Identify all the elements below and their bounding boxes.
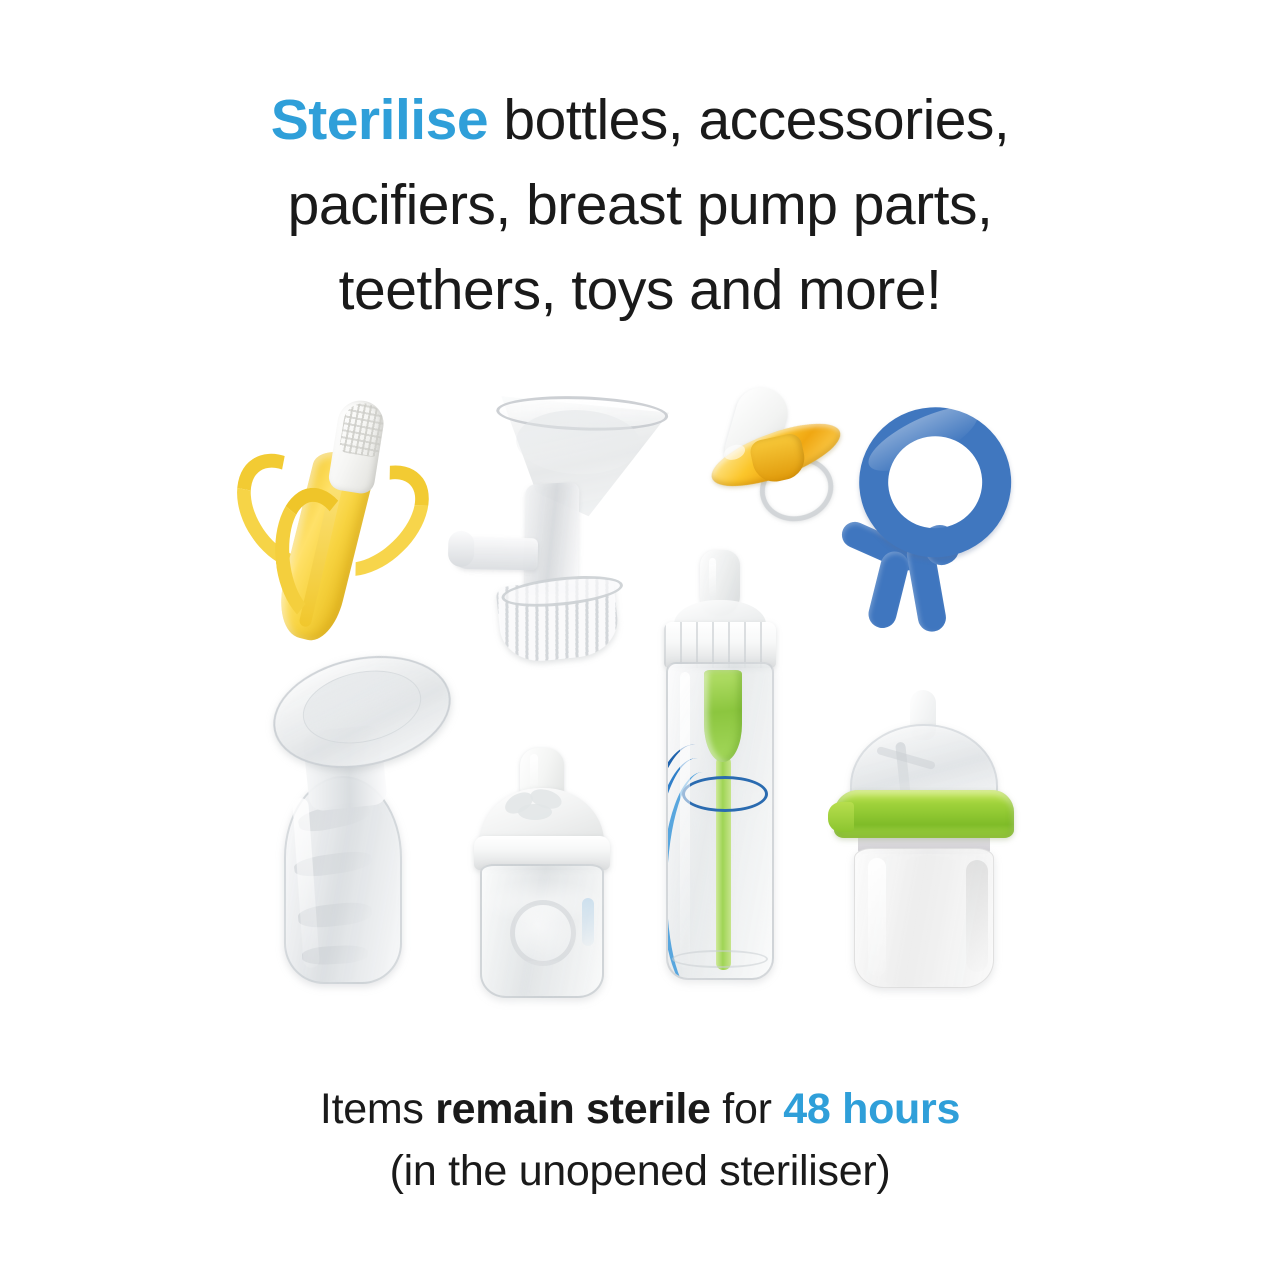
anti-colic-highlight: [680, 672, 690, 968]
silicone-bottle-highlight: [868, 858, 886, 976]
page-footer: Items remain sterile for 48 hours (in th…: [0, 1078, 1280, 1202]
page-headline: Sterilise bottles, accessories, pacifier…: [0, 78, 1280, 333]
footer-line-1-accent: 48 hours: [783, 1085, 960, 1133]
footer-line-2: (in the unopened steriliser): [0, 1140, 1280, 1202]
product-glass-baby-bottle: [452, 748, 632, 1000]
footer-line-1: Items remain sterile for 48 hours: [0, 1078, 1280, 1140]
footer-line-1-part-1: Items: [320, 1085, 435, 1133]
headline-line-3: teethers, toys and more!: [0, 248, 1280, 333]
silicone-bottle-collar: [834, 790, 1014, 838]
footer-line-1-part-2: for: [711, 1085, 784, 1133]
headline-accent-word: Sterilise: [271, 88, 488, 152]
anti-colic-base-rim: [672, 950, 768, 968]
glass-bottle-grip-panel: [510, 900, 576, 966]
glass-bottle-brand-mark: [582, 898, 594, 946]
anti-colic-vent-head: [704, 670, 742, 762]
anti-colic-body: [666, 662, 774, 980]
silicone-bottle-collar-tab: [828, 802, 854, 832]
glass-bottle-petal-3: [518, 804, 552, 820]
footer-line-1-bold: remain sterile: [435, 1085, 710, 1133]
marketing-image: Sterilise bottles, accessories, pacifier…: [0, 0, 1280, 1280]
headline-line-1: Sterilise bottles, accessories,: [0, 78, 1280, 163]
product-collage: [0, 370, 1280, 1030]
ring-teether-prong-2: [866, 549, 912, 631]
product-silicone-manual-pump: [258, 658, 458, 988]
product-silicone-baby-bottle: [824, 690, 1024, 990]
product-ring-teether: [818, 401, 1034, 644]
headline-line-1-rest: bottles, accessories,: [488, 88, 1009, 152]
anti-colic-oval-graphic: [682, 776, 768, 812]
product-anti-colic-bottle: [640, 550, 800, 990]
silicone-bottle-shadow: [966, 860, 988, 972]
headline-line-2: pacifiers, breast pump parts,: [0, 163, 1280, 248]
flange-connector-cap: [448, 531, 475, 567]
product-banana-teether-toothbrush: [212, 375, 473, 681]
